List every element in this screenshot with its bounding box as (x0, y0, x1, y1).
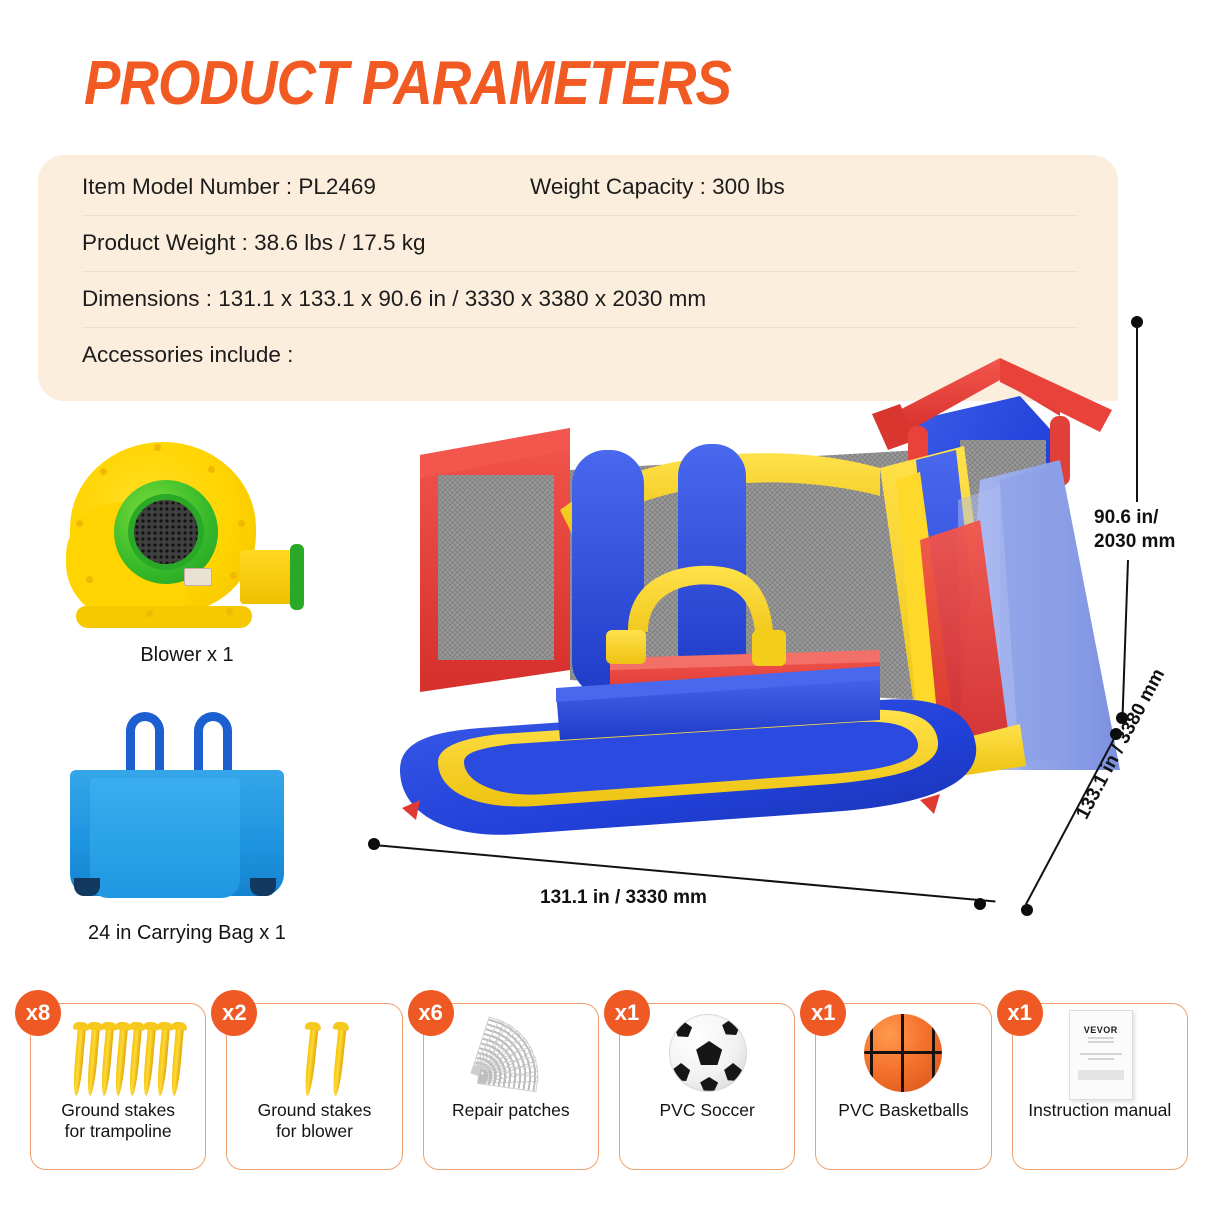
spec-model-number: Item Model Number : PL2469 (82, 174, 376, 200)
accessory-card-repair-patches[interactable]: x6 Repair patches (423, 1003, 599, 1170)
accessory-card-ground-stakes-trampoline[interactable]: x8 Ground stakes fo (30, 1003, 206, 1170)
height-dim-label: 90.6 in/ 2030 mm (1094, 506, 1175, 554)
carrying-bag-accessory: 24 in Carrying Bag x 1 (62, 706, 312, 945)
quantity-badge: x1 (997, 990, 1043, 1036)
width-dim-label: 131.1 in / 3330 mm (540, 886, 707, 910)
spec-accessories-include: Accessories include : (82, 342, 293, 368)
carrying-bag-icon (62, 706, 292, 916)
quantity-badge: x6 (408, 990, 454, 1036)
spec-row: Item Model Number : PL2469 Weight Capaci… (82, 159, 1078, 216)
width-dim-dot-right (974, 898, 986, 910)
accessory-card-ground-stakes-blower[interactable]: x2 Ground stakes for blower (226, 1003, 402, 1170)
height-dim-line-upper (1136, 322, 1138, 502)
blower-icon (62, 438, 292, 638)
page-title: PRODUCT PARAMETERS (84, 52, 731, 116)
manual-brand: VEVOR (1070, 1025, 1132, 1035)
quantity-badge: x2 (211, 990, 257, 1036)
quantity-badge: x8 (15, 990, 61, 1036)
accessory-card-list: x8 Ground stakes fo (30, 1003, 1188, 1168)
quantity-badge: x1 (604, 990, 650, 1036)
accessory-card-caption: Ground stakes for blower (258, 1100, 372, 1142)
spec-product-weight: Product Weight : 38.6 lbs / 17.5 kg (82, 230, 426, 256)
depth-dim-dot-bottom (1021, 904, 1033, 916)
accessory-card-caption: Ground stakes for trampoline (61, 1100, 175, 1142)
accessory-card-pvc-soccer[interactable]: x1 PVC Soccer (619, 1003, 795, 1170)
height-dim-label-line2: 2030 mm (1094, 530, 1175, 554)
carrying-bag-caption: 24 in Carrying Bag x 1 (62, 922, 312, 945)
height-dim-label-line1: 90.6 in/ (1094, 506, 1175, 530)
spec-weight-capacity: Weight Capacity : 300 lbs (530, 174, 785, 200)
blower-accessory: Blower x 1 (62, 438, 312, 667)
product-image (360, 300, 1120, 870)
product-parameters-infographic: PRODUCT PARAMETERS Item Model Number : P… (0, 0, 1214, 1214)
height-dim-line-lower (1121, 560, 1129, 718)
accessory-card-instruction-manual[interactable]: x1 VEVOR Instruction manual (1012, 1003, 1188, 1170)
spec-row: Product Weight : 38.6 lbs / 17.5 kg (82, 215, 1078, 272)
quantity-badge: x1 (800, 990, 846, 1036)
accessory-card-pvc-basketballs[interactable]: x1 PVC Basketballs (815, 1003, 991, 1170)
blower-caption: Blower x 1 (62, 644, 312, 667)
